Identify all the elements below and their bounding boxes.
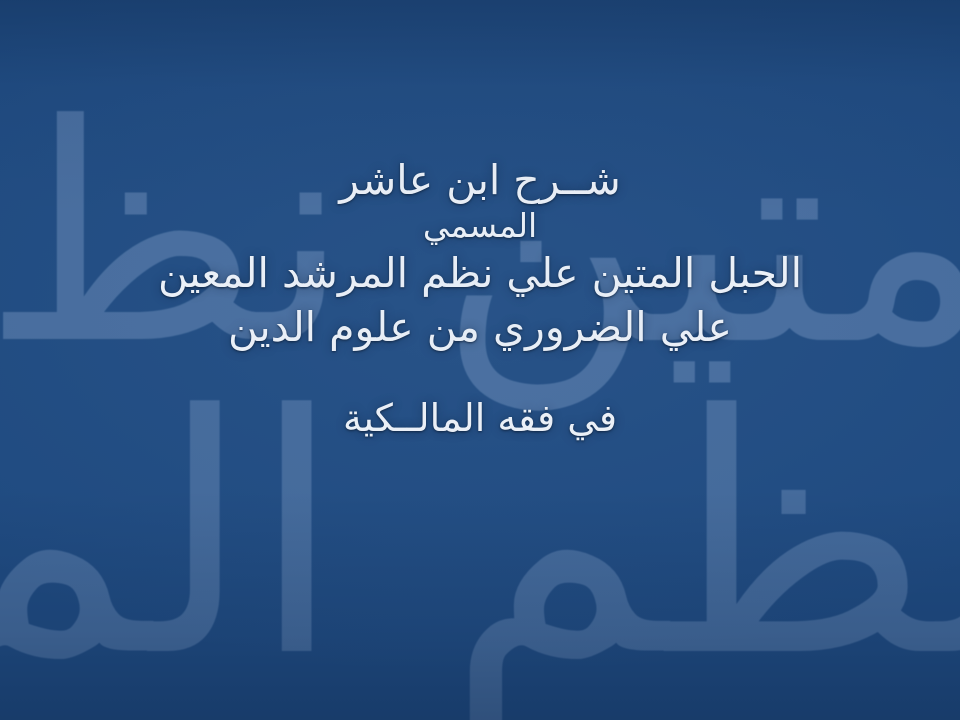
title-line-main: شــرح ابن عاشر <box>339 158 620 204</box>
title-line-subtitle-first: الحبل المتين علي نظم المرشد المعين <box>158 251 802 297</box>
title-line-school: في فقه المالــكية <box>343 397 617 440</box>
title-line-named: المسمي <box>423 208 537 245</box>
title-block: شــرح ابن عاشر المسمي الحبل المتين علي ن… <box>0 0 960 720</box>
book-cover: نظ متين نظم الم شــرح ابن عاشر المسمي ال… <box>0 0 960 720</box>
title-line-subtitle-second: علي الضروري من علوم الدين <box>228 305 732 351</box>
